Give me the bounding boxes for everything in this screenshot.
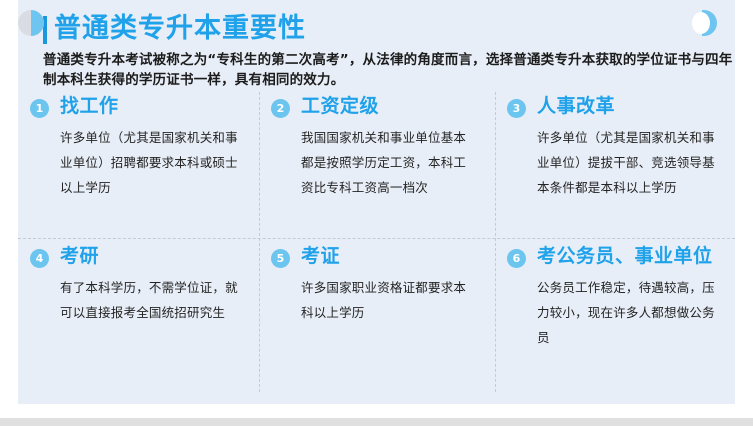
cards-row-top: 1 找工作 许多单位（尤其是国家机关和事业单位）招聘都要求本科或硕士以上学历 2… (18, 88, 735, 238)
card-title: 工资定级 (301, 94, 379, 119)
card-body-text: 许多单位（尤其是国家机关和事业单位）招聘都要求本科或硕士以上学历 (60, 125, 241, 200)
card-number-badge: 1 (30, 99, 49, 118)
header: 普通类专升本重要性 普通类专升本考试被称之为“专科生的第二次高考”，从法律的角度… (43, 12, 711, 90)
card-number-badge: 5 (271, 249, 290, 268)
card-find-job[interactable]: 1 找工作 许多单位（尤其是国家机关和事业单位）招聘都要求本科或硕士以上学历 (18, 88, 259, 238)
card-number-badge: 3 (507, 99, 526, 118)
card-postgraduate-exam[interactable]: 4 考研 有了本科学历，不需学位证，就可以直接报考全国统招研究生 (18, 238, 259, 404)
card-header: 6 考公务员、事业单位 (507, 244, 717, 269)
page-title: 普通类专升本重要性 (54, 12, 306, 46)
page-description: 普通类专升本考试被称之为“专科生的第二次高考”，从法律的角度而言，选择普通类专升… (43, 50, 733, 90)
cards-grid: 1 找工作 许多单位（尤其是国家机关和事业单位）招聘都要求本科或硕士以上学历 2… (18, 88, 735, 404)
card-number-badge: 4 (30, 249, 49, 268)
card-body-text: 有了本科学历，不需学位证，就可以直接报考全国统招研究生 (60, 275, 241, 325)
card-header: 3 人事改革 (507, 94, 717, 119)
card-body-text: 公务员工作稳定，待遇较高，压力较小，现在许多人都想做公务员 (537, 275, 717, 350)
card-title: 考公务员、事业单位 (537, 244, 713, 269)
card-body-text: 许多国家职业资格证都要求本科以上学历 (301, 275, 477, 325)
card-header: 1 找工作 (30, 94, 241, 119)
card-personnel-reform[interactable]: 3 人事改革 许多单位（尤其是国家机关和事业单位）提拔干部、竞选领导基本条件都是… (495, 88, 735, 238)
card-title: 考证 (301, 244, 340, 269)
card-civil-servant-exam[interactable]: 6 考公务员、事业单位 公务员工作稳定，待遇较高，压力较小，现在许多人都想做公务… (495, 238, 735, 404)
card-body-text: 我国国家机关和事业单位基本都是按照学历定工资，本科工资比专科工资高一档次 (301, 125, 477, 200)
cards-row-bottom: 4 考研 有了本科学历，不需学位证，就可以直接报考全国统招研究生 5 考证 许多… (18, 238, 735, 404)
card-title: 人事改革 (537, 94, 615, 119)
card-certification-exam[interactable]: 5 考证 许多国家职业资格证都要求本科以上学历 (259, 238, 495, 404)
bottom-strip (0, 418, 753, 426)
card-header: 5 考证 (271, 244, 477, 269)
card-salary-grading[interactable]: 2 工资定级 我国国家机关和事业单位基本都是按照学历定工资，本科工资比专科工资高… (259, 88, 495, 238)
decorative-crescent-right (691, 10, 717, 36)
divider-horizontal (18, 238, 735, 239)
card-header: 4 考研 (30, 244, 241, 269)
card-number-badge: 6 (507, 249, 526, 268)
card-header: 2 工资定级 (271, 94, 477, 119)
content-panel: 普通类专升本重要性 普通类专升本考试被称之为“专科生的第二次高考”，从法律的角度… (18, 0, 735, 404)
card-number-badge: 2 (271, 99, 290, 118)
decorative-half-circle-left (18, 10, 44, 36)
decorative-crescent-right-cutout (692, 12, 710, 34)
card-title: 考研 (60, 244, 99, 269)
card-body-text: 许多单位（尤其是国家机关和事业单位）提拔干部、竞选领导基本条件都是本科以上学历 (537, 125, 717, 200)
divider-vertical-right (495, 92, 496, 392)
card-title: 找工作 (60, 94, 119, 119)
title-row: 普通类专升本重要性 (43, 12, 711, 48)
divider-vertical-left (259, 92, 260, 392)
